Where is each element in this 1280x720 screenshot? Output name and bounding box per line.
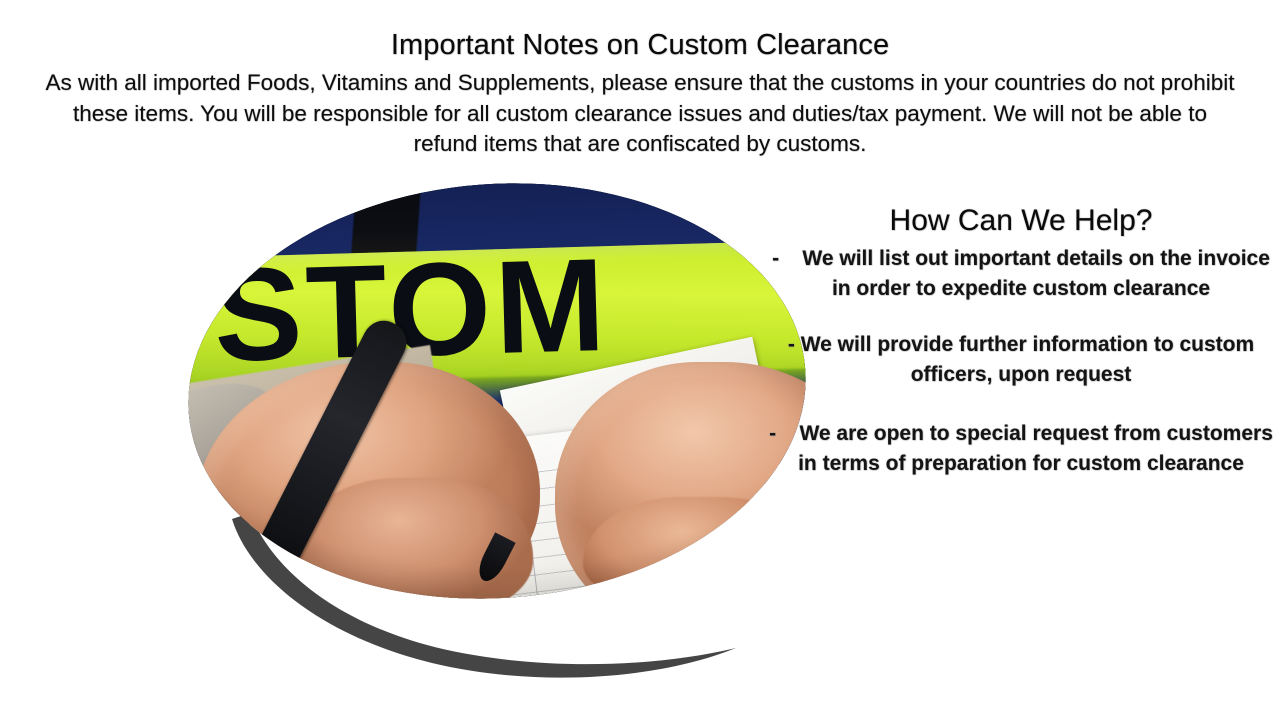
help-item-line: officers, upon request [762, 360, 1280, 390]
notes-header: Important Notes on Custom Clearance As w… [0, 28, 1280, 160]
photo-content: USTOM [174, 163, 819, 619]
help-item-text: We are open to special request from cust… [799, 422, 1272, 445]
help-item-line: in order to expedite custom clearance [762, 274, 1280, 304]
help-list-item: - We will provide further information to… [762, 330, 1280, 389]
help-list-item: - We are open to special request from cu… [762, 419, 1280, 478]
photo-vignette-layer [174, 163, 819, 619]
help-item-text: We will provide further information to c… [801, 333, 1254, 356]
bullet-dash: - [788, 333, 795, 356]
bullet-dash: - [772, 247, 779, 270]
help-item-text: We will list out important details on th… [802, 247, 1270, 270]
help-list-item: - We will list out important details on … [762, 244, 1280, 303]
notes-body-text: As with all imported Foods, Vitamins and… [45, 68, 1235, 160]
help-item-line: - We are open to special request from cu… [762, 419, 1280, 449]
page-title: Important Notes on Custom Clearance [0, 28, 1280, 62]
help-item-line: - We will provide further information to… [762, 330, 1280, 360]
notes-body-line: As with all imported Foods, Vitamins and… [46, 70, 1235, 95]
help-item-line: in terms of preparation for custom clear… [762, 449, 1280, 479]
photo-oval-mask: USTOM [174, 163, 819, 619]
help-item-line: - We will list out important details on … [762, 244, 1280, 274]
notes-body-line: items that are confiscated by customs. [484, 131, 867, 156]
bullet-dash: - [769, 422, 776, 445]
how-can-we-help-panel: How Can We Help? - We will list out impo… [762, 203, 1280, 478]
customs-officer-photo: USTOM [188, 184, 806, 598]
help-title: How Can We Help? [762, 203, 1280, 239]
